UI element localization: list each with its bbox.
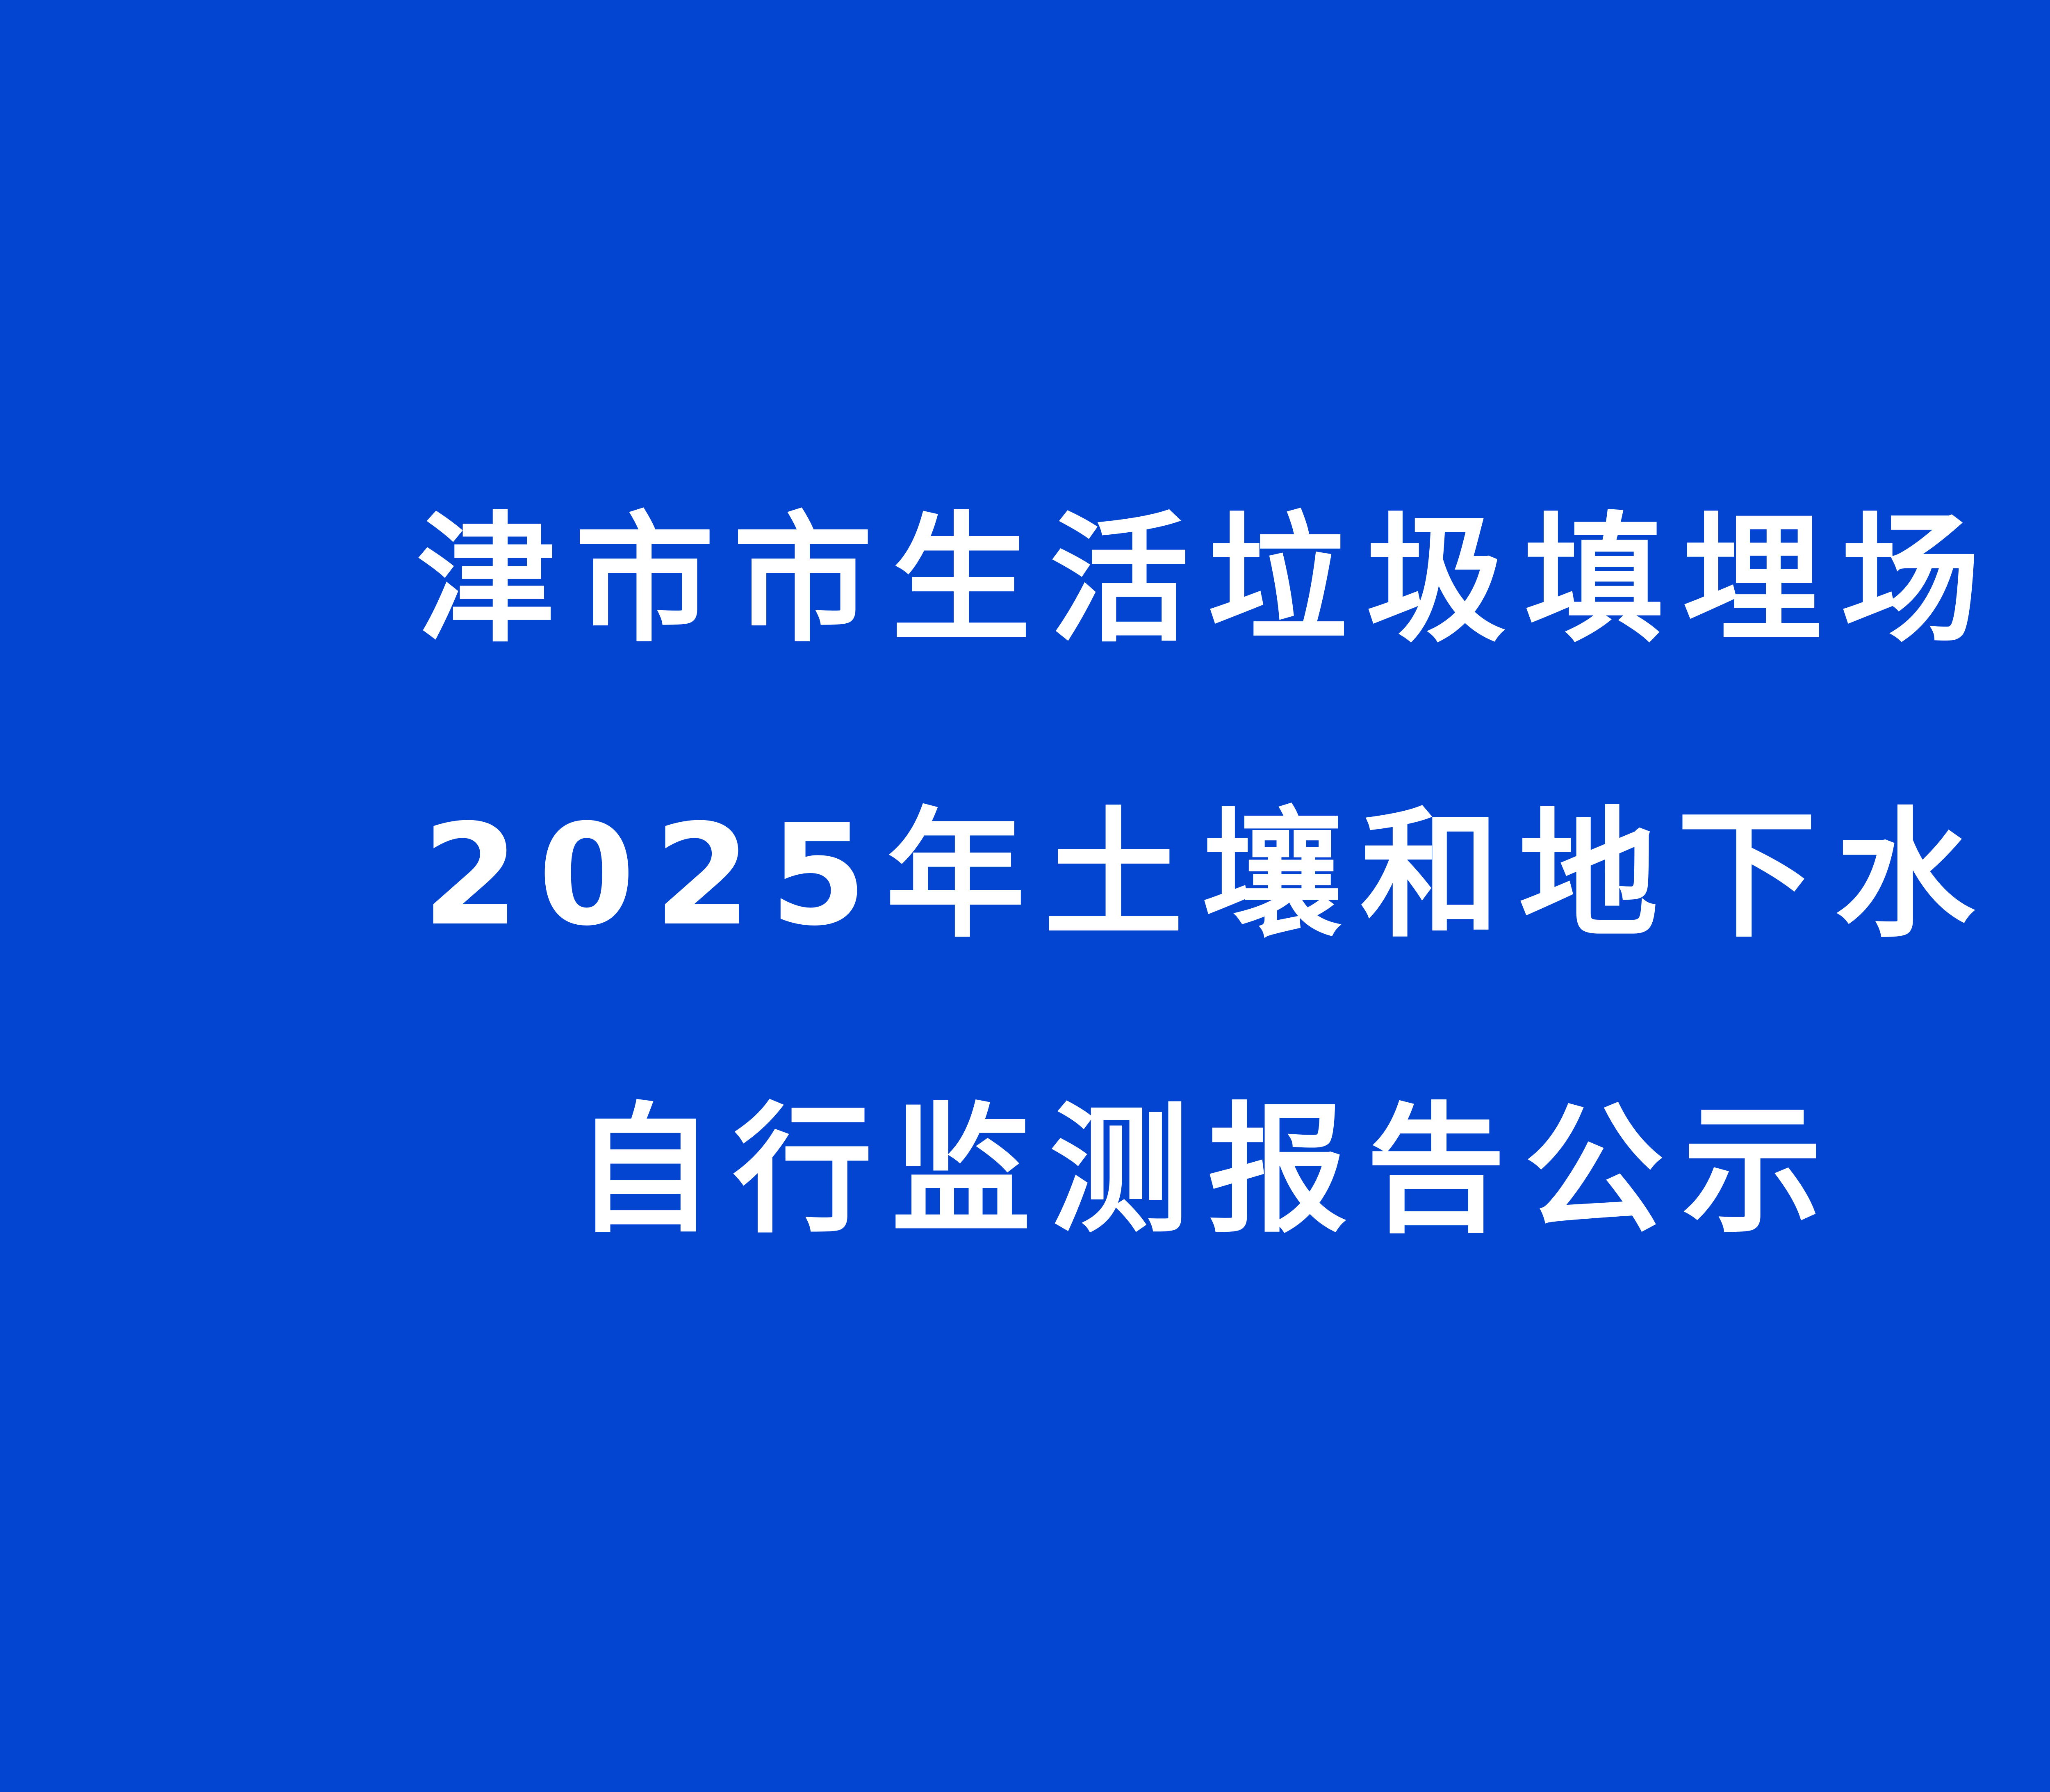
poster-title-block: 津市市生活垃圾填埋场 2025年土壤和地下水 自行监测报告公示	[0, 502, 2050, 1249]
poster-background: 津市市生活垃圾填埋场 2025年土壤和地下水 自行监测报告公示	[0, 0, 2050, 1792]
title-line-3: 自行监测报告公示	[556, 1093, 1841, 1249]
title-line-1: 津市市生活垃圾填埋场	[398, 502, 1999, 658]
title-line-2: 2025年土壤和地下水	[403, 798, 1993, 953]
